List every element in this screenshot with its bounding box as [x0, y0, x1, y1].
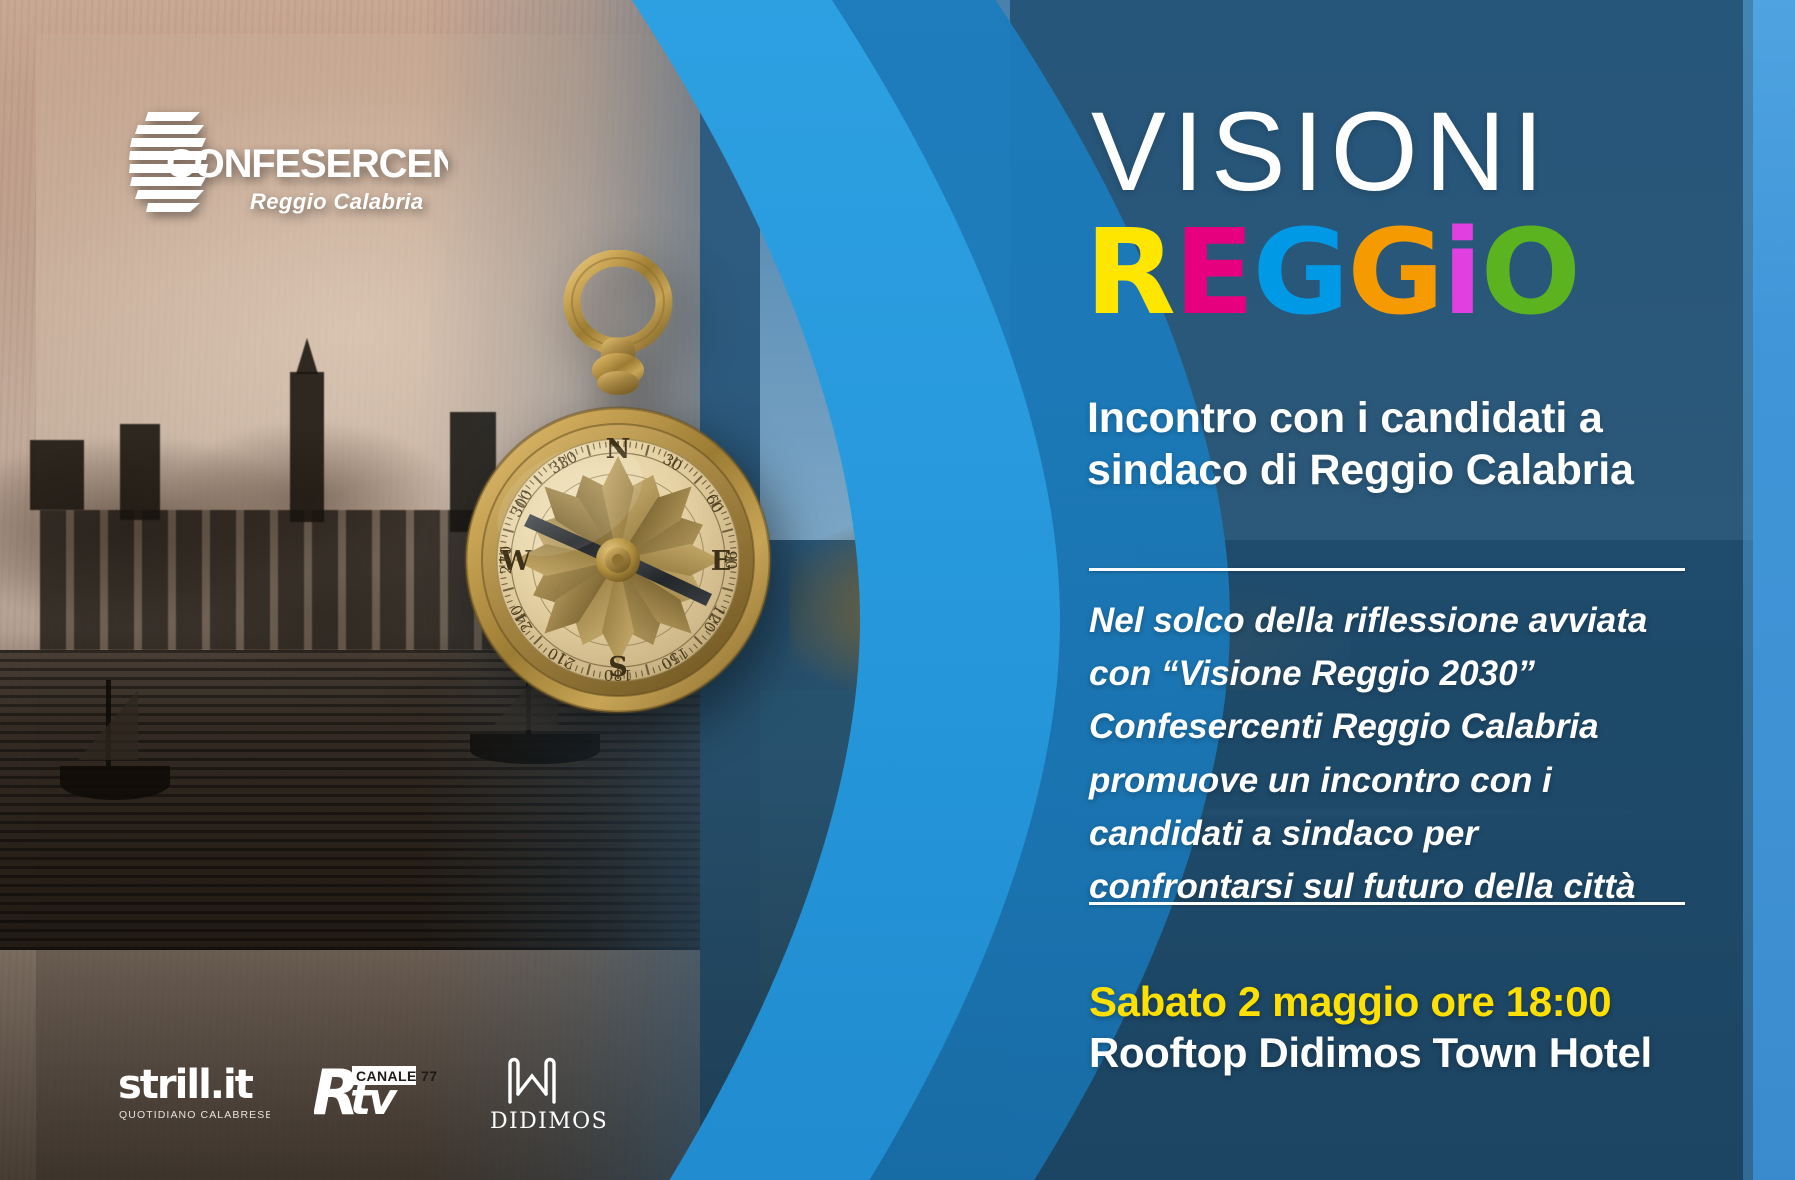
engraving-tower [30, 440, 84, 510]
compass-illustration: N E S W 30 60 90 120 150 180 210 240 270… [418, 250, 818, 720]
poster-subtitle: Incontro con i candidati a sindaco di Re… [1087, 392, 1687, 497]
svg-text:270: 270 [497, 546, 515, 575]
engraving-tower [120, 424, 160, 520]
reggio-letter-2: G [1252, 213, 1347, 331]
sponsor-didimos[interactable]: DIDIMOS [488, 1052, 608, 1134]
compass-loop [572, 258, 664, 395]
strill-wordmark: strill.it [118, 1062, 254, 1108]
reggio-letter-5: O [1481, 213, 1579, 331]
reggio-letter-0: R [1085, 213, 1174, 331]
sponsor-logos: strill.it QUOTIDIANO CALABRESE DAL 2006 … [118, 1052, 608, 1142]
divider-top [1089, 568, 1685, 571]
poster-title-reggio: REGGiO [1085, 213, 1579, 331]
didimos-wordmark: DIDIMOS [490, 1109, 608, 1134]
event-poster: N E S W 30 60 90 120 150 180 210 240 270… [0, 0, 1795, 1180]
event-venue: Rooftop Didimos Town Hotel [1089, 1029, 1652, 1077]
content-column: VISIONI REGGiO Incontro con i candidati … [1085, 0, 1705, 1180]
divider-bottom [1089, 902, 1685, 905]
event-date: Sabato 2 maggio ore 18:00 [1089, 978, 1611, 1026]
strill-tagline: QUOTIDIANO CALABRESE DAL 2006 [119, 1109, 270, 1121]
reggio-letter-4: i [1442, 213, 1480, 331]
engraving-bell-tower [290, 372, 324, 522]
poster-title-visioni: VISIONI [1091, 96, 1551, 208]
engraving-sailing-ship [60, 766, 170, 800]
svg-text:90: 90 [722, 550, 740, 569]
svg-text:180: 180 [604, 666, 633, 684]
confesercenti-logo: CONFESERCENTI Reggio Calabria [118, 104, 448, 222]
didimos-monogram-icon [510, 1060, 554, 1103]
confesercenti-locality: Reggio Calabria [250, 189, 423, 214]
sponsor-strill-it[interactable]: strill.it QUOTIDIANO CALABRESE DAL 2006 [118, 1052, 270, 1132]
right-edge-strip [1753, 0, 1795, 1180]
right-edge-inner-strip [1743, 0, 1753, 1180]
confesercenti-wordmark: CONFESERCENTI [166, 142, 448, 186]
sponsor-rtv-canale-77[interactable]: R tv CANALE 77 [314, 1052, 444, 1132]
reggio-letter-3: G [1347, 213, 1442, 331]
rtv-canale-label: CANALE 77 [356, 1068, 437, 1084]
reggio-letter-1: E [1174, 213, 1253, 331]
poster-body-text: Nel solco della riflessione avviata con … [1089, 594, 1689, 913]
